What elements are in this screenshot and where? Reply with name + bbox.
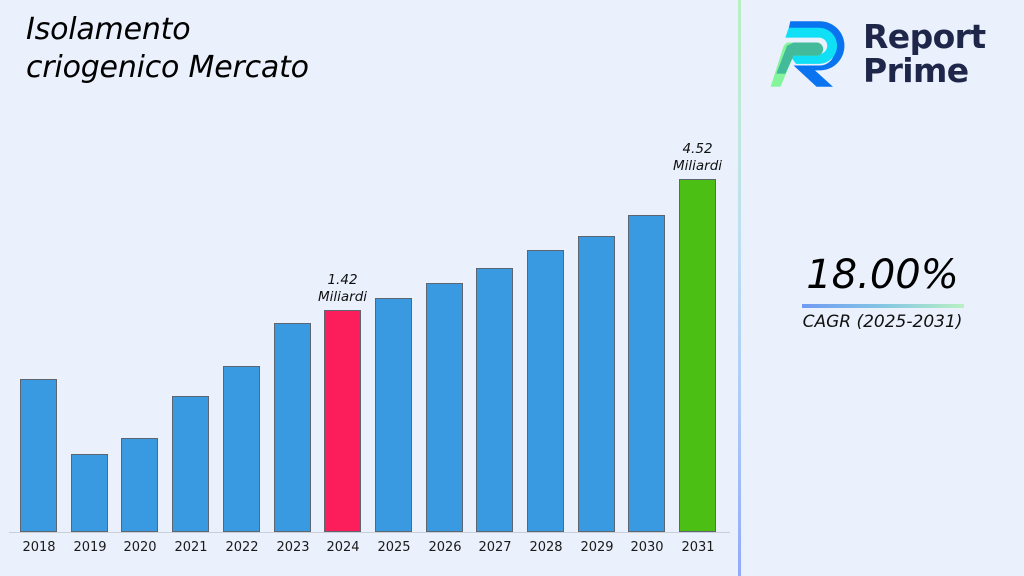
bar-group-2029[interactable]: [578, 236, 615, 532]
x-axis-label-2030: 2030: [622, 540, 672, 555]
infographic-slide: Isolamento criogenico Mercato 2018201920…: [0, 0, 1024, 576]
x-axis-label-2024: 2024: [318, 540, 368, 555]
bar-group-2028[interactable]: [527, 250, 564, 532]
x-axis-label-2023: 2023: [268, 540, 318, 555]
x-axis-label-2018: 2018: [14, 540, 64, 555]
x-axis-label-2027: 2027: [470, 540, 520, 555]
report-prime-logo: Report Prime: [769, 10, 1009, 98]
bar-group-2031[interactable]: 4.52 Miliardi: [679, 179, 716, 532]
x-axis-label-2025: 2025: [369, 540, 419, 555]
bar-2019[interactable]: [71, 454, 108, 532]
cagr-value: 18.00%: [741, 252, 1024, 298]
bar-group-2021[interactable]: [172, 396, 209, 532]
bar-2027[interactable]: [476, 268, 513, 532]
bar-2029[interactable]: [578, 236, 615, 532]
bar-2025[interactable]: [375, 298, 412, 532]
bar-value-label-2031: 4.52 Miliardi: [649, 141, 746, 175]
cagr-block: 18.00% CAGR (2025-2031): [741, 252, 1024, 332]
x-axis-label-2022: 2022: [217, 540, 267, 555]
bar-chart-plot-area: 2018201920202021202220231.42 Miliardi202…: [0, 0, 739, 576]
bar-group-2019[interactable]: [71, 454, 108, 532]
bar-group-2026[interactable]: [426, 283, 463, 532]
bar-2020[interactable]: [121, 438, 158, 532]
x-axis-label-2020: 2020: [115, 540, 165, 555]
bar-2021[interactable]: [172, 396, 209, 532]
x-axis-label-2019: 2019: [65, 540, 115, 555]
bar-2028[interactable]: [527, 250, 564, 532]
bar-2022[interactable]: [223, 366, 260, 532]
report-prime-wordmark: Report Prime: [863, 20, 986, 88]
bar-2031[interactable]: [679, 179, 716, 532]
bar-group-2018[interactable]: [20, 379, 57, 532]
cagr-label: CAGR (2025-2031): [741, 312, 1024, 332]
x-axis-label-2028: 2028: [521, 540, 571, 555]
x-axis-label-2026: 2026: [420, 540, 470, 555]
side-panel: Report Prime 18.00% CAGR (2025-2031): [741, 0, 1024, 576]
bar-group-2020[interactable]: [121, 438, 158, 532]
bar-group-2023[interactable]: [274, 323, 311, 532]
bar-2026[interactable]: [426, 283, 463, 532]
cagr-divider-rule: [802, 304, 964, 308]
bar-2030[interactable]: [628, 215, 665, 532]
x-axis-line: [9, 532, 730, 533]
bar-2024[interactable]: [324, 310, 361, 532]
x-axis-label-2031: 2031: [673, 540, 723, 555]
bar-group-2027[interactable]: [476, 268, 513, 532]
chart-panel: Isolamento criogenico Mercato 2018201920…: [0, 0, 739, 576]
bar-group-2025[interactable]: [375, 298, 412, 532]
bar-2023[interactable]: [274, 323, 311, 532]
bar-group-2022[interactable]: [223, 366, 260, 532]
bar-group-2024[interactable]: 1.42 Miliardi: [324, 310, 361, 532]
x-axis-label-2021: 2021: [166, 540, 216, 555]
bar-2018[interactable]: [20, 379, 57, 532]
x-axis-label-2029: 2029: [572, 540, 622, 555]
bar-group-2030[interactable]: [628, 215, 665, 532]
report-prime-r-logomark: [769, 13, 851, 95]
